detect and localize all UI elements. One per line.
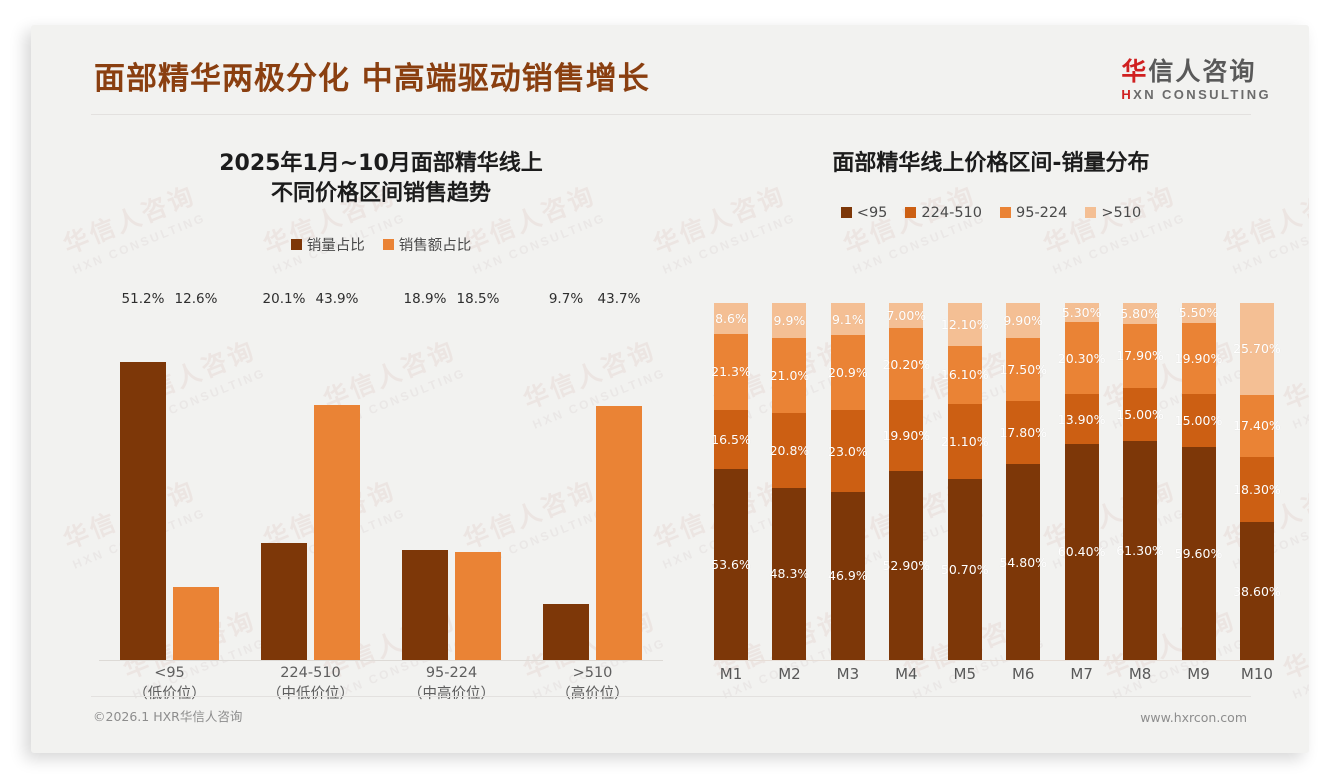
bar-group: 9.7%43.7% [522,311,663,660]
stacked-bar-chart: 8.6%21.3%16.5%53.6%9.9%21.0%20.8%48.3%9.… [714,303,1274,713]
stack-segment-<95[interactable]: 54.80% [1006,464,1040,660]
x-axis-tick-<95: <95（低价位） [99,663,240,705]
legend-swatch-icon [1085,207,1096,218]
stack-segment-95-224[interactable]: 17.90% [1123,324,1157,388]
stack-segment-224-510[interactable]: 15.00% [1123,388,1157,442]
stack-segment-label: 5.30% [1062,305,1102,320]
stack-segment->510[interactable]: 9.1% [831,303,865,335]
stack-segment-224-510[interactable]: 16.5% [714,410,748,469]
x-tick-main: 224-510 [280,665,341,681]
x-axis-tick-M9: M9 [1182,665,1216,683]
stack-segment-label: 61.30% [1116,543,1164,558]
stack-segment-<95[interactable]: 53.6% [714,469,748,660]
stack-segment-label: 20.20% [882,357,930,372]
legend-label: >510 [1101,205,1141,221]
x-tick-sub: （高价位） [522,684,663,705]
stacked-bar-M3[interactable]: 9.1%20.9%23.0%46.9% [831,303,865,660]
stacked-bar-x-axis: M1M2M3M4M5M6M7M8M9M10 [714,665,1274,683]
legend-swatch-icon [841,207,852,218]
slide-header: 面部精华两极分化 中高端驱动销售增长 华信人咨询 HXN CONSULTING [31,25,1309,113]
logo-cn-accent: 华 [1121,57,1148,86]
stack-segment-label: 52.90% [882,558,930,573]
stack-segment-label: 17.80% [999,425,1047,440]
stack-segment-label: 50.70% [941,562,989,577]
stack-segment-224-510[interactable]: 20.8% [772,413,806,487]
stacked-bar-M4[interactable]: 7.00%20.20%19.90%52.90% [889,303,923,660]
bar-value-label: 20.1% [263,291,306,307]
legend-item-224-510[interactable]: 224-510 [905,205,982,221]
legend-item-销售额占比[interactable]: 销售额占比 [383,234,472,255]
stack-segment-label: 46.9% [828,568,868,583]
stack-segment-224-510[interactable]: 13.90% [1065,394,1099,444]
stacked-bar-plot-area: 8.6%21.3%16.5%53.6%9.9%21.0%20.8%48.3%9.… [714,303,1274,661]
stack-segment-<95[interactable]: 50.70% [948,479,982,660]
stack-segment-label: 20.8% [770,443,810,458]
x-axis-tick-M5: M5 [948,665,982,683]
stack-segment-label: 16.10% [941,367,989,382]
stack-segment-95-224[interactable]: 21.0% [772,338,806,413]
legend-label: 95-224 [1016,205,1067,221]
stack-segment-95-224[interactable]: 17.50% [1006,338,1040,400]
stack-segment-label: 54.80% [999,555,1047,570]
stack-segment-95-224[interactable]: 16.10% [948,346,982,403]
stacked-bar-M6[interactable]: 9.90%17.50%17.80%54.80% [1006,303,1040,660]
x-axis-tick-M4: M4 [889,665,923,683]
stack-segment-label: 25.70% [1233,341,1281,356]
x-axis-tick->510: >510（高价位） [522,663,663,705]
chart-title-sales-trend: 2025年1月~10月面部精华线上 不同价格区间销售趋势 [71,125,691,208]
stack-segment-label: 21.3% [711,364,751,379]
stacked-bar-M9[interactable]: 5.50%19.90%15.00%59.60% [1182,303,1216,660]
legend-swatch-icon [291,239,302,250]
stacked-bar-M2[interactable]: 9.9%21.0%20.8%48.3% [772,303,806,660]
stack-segment-95-224[interactable]: 20.20% [889,328,923,400]
footer-copyright: ©2026.1 HXR华信人咨询 [93,706,242,725]
chart-title-line-1: 2025年1月~10月面部精华线上 [219,151,543,176]
x-axis-tick-M2: M2 [772,665,806,683]
logo-cn-rest: 信人咨询 [1148,57,1256,86]
legend-item->510[interactable]: >510 [1085,205,1141,221]
bar-销售额占比[interactable]: 12.6% [173,587,219,660]
stack-segment-224-510[interactable]: 15.00% [1182,394,1216,448]
x-axis-tick-M1: M1 [714,665,748,683]
stack-segment-95-224[interactable]: 19.90% [1182,323,1216,394]
stack-segment-label: 16.5% [711,432,751,447]
stack-segment-224-510[interactable]: 18.30% [1240,457,1274,522]
bar-value-label: 9.7% [549,291,583,307]
company-logo: 华信人咨询 HXN CONSULTING [1121,59,1271,101]
stacked-bar-M5[interactable]: 12.10%16.10%21.10%50.70% [948,303,982,660]
stack-segment-label: 21.0% [770,368,810,383]
legend-swatch-icon [383,239,394,250]
legend-label: 销量占比 [307,234,365,255]
legend-label: 224-510 [921,205,982,221]
bar-column[interactable]: 12.6% [173,311,219,660]
bar-销量占比[interactable]: 51.2% [120,362,166,660]
stack-segment-95-224[interactable]: 20.9% [831,335,865,410]
stack-segment-label: 17.50% [999,362,1047,377]
stack-segment-label: 9.1% [832,312,864,327]
stack-segment-label: 21.10% [941,434,989,449]
stack-segment-95-224[interactable]: 17.40% [1240,395,1274,457]
stack-segment->510[interactable]: 8.6% [714,303,748,334]
stack-segment-<95[interactable]: 60.40% [1065,444,1099,660]
bar-column[interactable]: 43.7% [596,311,642,660]
header-divider [91,114,1251,115]
legend-item-<95[interactable]: <95 [841,205,888,221]
stack-segment-<95[interactable]: 52.90% [889,471,923,660]
legend-label: 销售额占比 [399,234,472,255]
x-axis-tick-M6: M6 [1006,665,1040,683]
stack-segment-224-510[interactable]: 21.10% [948,404,982,479]
stack-segment-<95[interactable]: 61.30% [1123,441,1157,660]
bar-group: 18.9%18.5% [381,311,522,660]
stack-segment-label: 12.10% [941,317,989,332]
stack-segment-<95[interactable]: 48.3% [772,488,806,660]
x-axis-tick-224-510: 224-510（中低价位） [240,663,381,705]
stack-segment-label: 8.6% [715,311,747,326]
legend-label: <95 [857,205,888,221]
bar-value-label: 18.5% [457,291,500,307]
bar-group: 20.1%43.9% [240,311,381,660]
logo-english-text: HXN CONSULTING [1121,88,1271,101]
stack-segment->510[interactable]: 7.00% [889,303,923,328]
stack-segment-<95[interactable]: 46.9% [831,492,865,659]
slide-canvas: 华信人咨询HXN CONSULTING华信人咨询HXN CONSULTING华信… [31,25,1309,753]
stack-segment->510[interactable]: 25.70% [1240,303,1274,395]
bar-销量占比[interactable]: 9.7% [543,604,589,660]
stack-segment->510[interactable]: 9.9% [772,303,806,338]
x-tick-sub: （低价位） [99,684,240,705]
stacked-bar-M10[interactable]: 25.70%17.40%18.30%38.60% [1240,303,1274,660]
bar-group: 51.2%12.6% [99,311,240,660]
stack-segment->510[interactable]: 5.80% [1123,303,1157,324]
stack-segment-label: 19.90% [1175,351,1223,366]
stack-segment-224-510[interactable]: 23.0% [831,410,865,492]
x-axis-tick-M3: M3 [831,665,865,683]
stack-segment-label: 5.50% [1179,305,1219,320]
stack-segment-label: 23.0% [828,444,868,459]
x-tick-main: >510 [573,665,613,681]
stack-segment-95-224[interactable]: 20.30% [1065,322,1099,394]
x-axis-tick-M8: M8 [1123,665,1157,683]
stack-segment-224-510[interactable]: 19.90% [889,400,923,471]
stacked-bar-M7[interactable]: 5.30%20.30%13.90%60.40% [1065,303,1099,660]
grouped-bar-x-axis: <95（低价位）224-510（中低价位）95-224（中高价位）>510（高价… [99,663,663,705]
logo-chinese-text: 华信人咨询 [1121,59,1271,85]
stack-segment-label: 9.90% [1003,313,1043,328]
stack-segment-label: 9.9% [774,313,806,328]
stack-segment-label: 5.80% [1120,306,1160,321]
logo-en-accent: H [1121,87,1133,102]
stacked-bar-M1[interactable]: 8.6%21.3%16.5%53.6% [714,303,748,660]
legend-swatch-icon [905,207,916,218]
stack-segment-label: 19.90% [882,428,930,443]
chart-panel-sales-trend: 2025年1月~10月面部精华线上 不同价格区间销售趋势 销量占比销售额占比 5… [71,125,691,705]
chart-title-line-2: 不同价格区间销售趋势 [271,181,491,206]
bar-销售额占比[interactable]: 43.9% [314,405,360,660]
stack-segment-label: 17.40% [1233,418,1281,433]
stack-segment->510[interactable]: 12.10% [948,303,982,346]
stack-segment-label: 60.40% [1058,544,1106,559]
legend-swatch-icon [1000,207,1011,218]
bar-销量占比[interactable]: 20.1% [261,543,307,660]
x-tick-sub: （中高价位） [381,684,522,705]
bar-销售额占比[interactable]: 18.5% [455,552,501,660]
legend-item-95-224[interactable]: 95-224 [1000,205,1067,221]
x-axis-tick-95-224: 95-224（中高价位） [381,663,522,705]
bar-value-label: 18.9% [404,291,447,307]
stacked-bar-M8[interactable]: 5.80%17.90%15.00%61.30% [1123,303,1157,660]
stack-segment-label: 17.90% [1116,348,1164,363]
x-tick-main: 95-224 [426,665,477,681]
bar-value-label: 43.7% [598,291,641,307]
bar-销量占比[interactable]: 18.9% [402,550,448,660]
grouped-bar-chart: 51.2%12.6%20.1%43.9%18.9%18.5%9.7%43.7% … [99,311,663,711]
bar-column[interactable]: 18.9% [402,311,448,660]
stack-segment-label: 20.9% [828,365,868,380]
stack-segment-<95[interactable]: 59.60% [1182,447,1216,660]
stack-segment-label: 15.00% [1175,413,1223,428]
stack-segment-label: 59.60% [1175,546,1223,561]
stack-segment->510[interactable]: 5.50% [1182,303,1216,323]
stack-segment-label: 48.3% [770,566,810,581]
page-title: 面部精华两极分化 中高端驱动销售增长 [94,53,650,98]
stack-segment-<95[interactable]: 38.60% [1240,522,1274,660]
grouped-bar-plot-area: 51.2%12.6%20.1%43.9%18.9%18.5%9.7%43.7% [99,311,663,661]
stack-segment-label: 38.60% [1233,584,1281,599]
stack-segment-224-510[interactable]: 17.80% [1006,401,1040,465]
legend-item-销量占比[interactable]: 销量占比 [291,234,365,255]
chart-legend-sales-trend: 销量占比销售额占比 [71,234,691,255]
stack-segment-label: 13.90% [1058,412,1106,427]
chart-legend-volume-distribution: <95224-51095-224>510 [696,205,1286,221]
bar-column[interactable]: 43.9% [314,311,360,660]
stack-segment-label: 18.30% [1233,482,1281,497]
bar-column[interactable]: 20.1% [261,311,307,660]
footer-divider [91,696,1251,697]
x-axis-tick-M7: M7 [1065,665,1099,683]
stack-segment-95-224[interactable]: 21.3% [714,334,748,410]
stack-segment-label: 7.00% [886,308,926,323]
bar-value-label: 51.2% [122,291,165,307]
stack-segment-label: 15.00% [1116,407,1164,422]
stack-segment-label: 53.6% [711,557,751,572]
bar-value-label: 12.6% [175,291,218,307]
footer-website: www.hxrcon.com [1140,710,1247,725]
x-axis-tick-M10: M10 [1240,665,1274,683]
x-tick-main: <95 [154,665,185,681]
stack-segment->510[interactable]: 5.30% [1065,303,1099,322]
bar-column[interactable]: 9.7% [543,311,589,660]
bar-value-label: 43.9% [316,291,359,307]
x-tick-sub: （中低价位） [240,684,381,705]
stack-segment-label: 20.30% [1058,351,1106,366]
bar-销售额占比[interactable]: 43.7% [596,406,642,660]
chart-panel-volume-distribution: 面部精华线上价格区间-销量分布 <95224-51095-224>510 8.6… [696,125,1286,705]
logo-en-rest: XN CONSULTING [1133,87,1271,102]
stack-segment->510[interactable]: 9.90% [1006,303,1040,338]
bar-column[interactable]: 51.2% [120,311,166,660]
chart-title-volume-distribution: 面部精华线上价格区间-销量分布 [696,125,1286,179]
bar-column[interactable]: 18.5% [455,311,501,660]
